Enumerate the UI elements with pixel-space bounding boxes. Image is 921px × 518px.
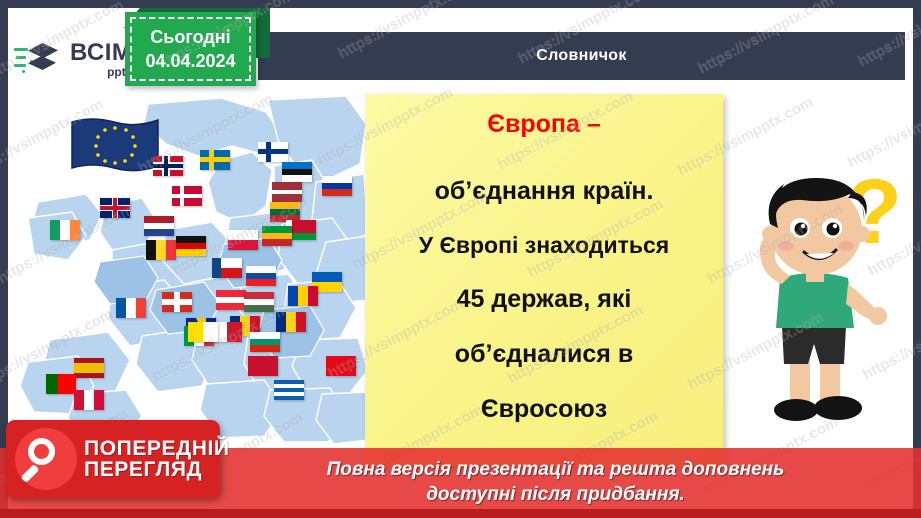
flag-greece: [274, 380, 304, 400]
page-title: Словничок: [536, 47, 626, 65]
slide-header-bar: Словничок: [258, 32, 905, 80]
flag-romania-2: [276, 312, 306, 332]
flag-norway: [153, 156, 183, 176]
flag-germany: [176, 236, 206, 256]
flag-turkey: [326, 356, 356, 376]
flag-estonia: [282, 162, 312, 182]
flag-poland: [228, 230, 258, 250]
flag-belgium: [146, 240, 176, 260]
flag-ireland: [50, 220, 80, 240]
note-line-3: 45 держав, які: [377, 287, 711, 312]
brand-suffix: pptx: [70, 66, 132, 78]
flag-spain: [74, 358, 104, 378]
today-label: Сьогодні: [150, 25, 230, 49]
flag-austria: [216, 290, 246, 310]
flag-switzerland: [162, 292, 192, 312]
flag-lithuania: [270, 202, 300, 222]
flag-andorra: [74, 390, 104, 410]
preview-label-line2: ПЕРЕГЛЯД: [84, 459, 230, 480]
glossary-note-card: Європа – об’єднання країн. У Європі знах…: [365, 94, 723, 466]
flag-albania: [248, 356, 278, 376]
flag-russia: [322, 176, 352, 196]
note-line-5: Євросоюз: [377, 397, 711, 422]
flag-france: [116, 298, 146, 318]
today-date: 04.04.2024: [145, 49, 235, 73]
presentation-slide: ВСІМ pptx Сьогодні 04.04.2024 Словничок: [0, 0, 921, 518]
banner-bottom-strip: [0, 509, 921, 518]
note-line-1: об’єднання країн.: [377, 179, 711, 204]
flag-lithuania-2: [262, 226, 292, 246]
flag-bulgaria: [250, 332, 280, 352]
europe-map-with-flags: [16, 94, 368, 466]
flag-czechia: [212, 258, 242, 278]
banner-line-1: Повна версія презентації та решта доповн…: [327, 458, 785, 483]
banner-line-2: доступні після придбання.: [426, 483, 685, 508]
european-union-flag: [68, 116, 162, 181]
flag-hungary: [244, 292, 274, 312]
flag-vatican: [188, 322, 218, 342]
today-date-badge: Сьогодні 04.04.2024: [125, 12, 256, 86]
flag-sweden: [200, 150, 230, 170]
flag-slovakia: [246, 266, 276, 286]
flag-denmark: [172, 186, 202, 206]
graduation-cap-icon: [14, 39, 66, 79]
preview-label-line1: ПОПЕРЕДНІЙ: [84, 438, 230, 459]
brand-name: ВСІМ: [70, 41, 132, 65]
flag-latvia: [272, 182, 302, 202]
flag-finland: [258, 142, 288, 162]
flag-netherlands: [144, 216, 174, 236]
thinking-boy-illustration: ?: [734, 158, 913, 458]
magnifier-icon: [15, 428, 77, 490]
preview-watermark-badge: ПОПЕРЕДНІЙ ПЕРЕГЛЯД: [6, 420, 220, 498]
note-line-2: У Європі знаходиться: [377, 234, 711, 257]
note-line-4: об’єдналися в: [377, 342, 711, 367]
note-line-term: Європа –: [377, 112, 711, 137]
flag-united-kingdom: [100, 198, 130, 218]
flag-moldova: [288, 286, 318, 306]
flag-portugal: [46, 374, 76, 394]
